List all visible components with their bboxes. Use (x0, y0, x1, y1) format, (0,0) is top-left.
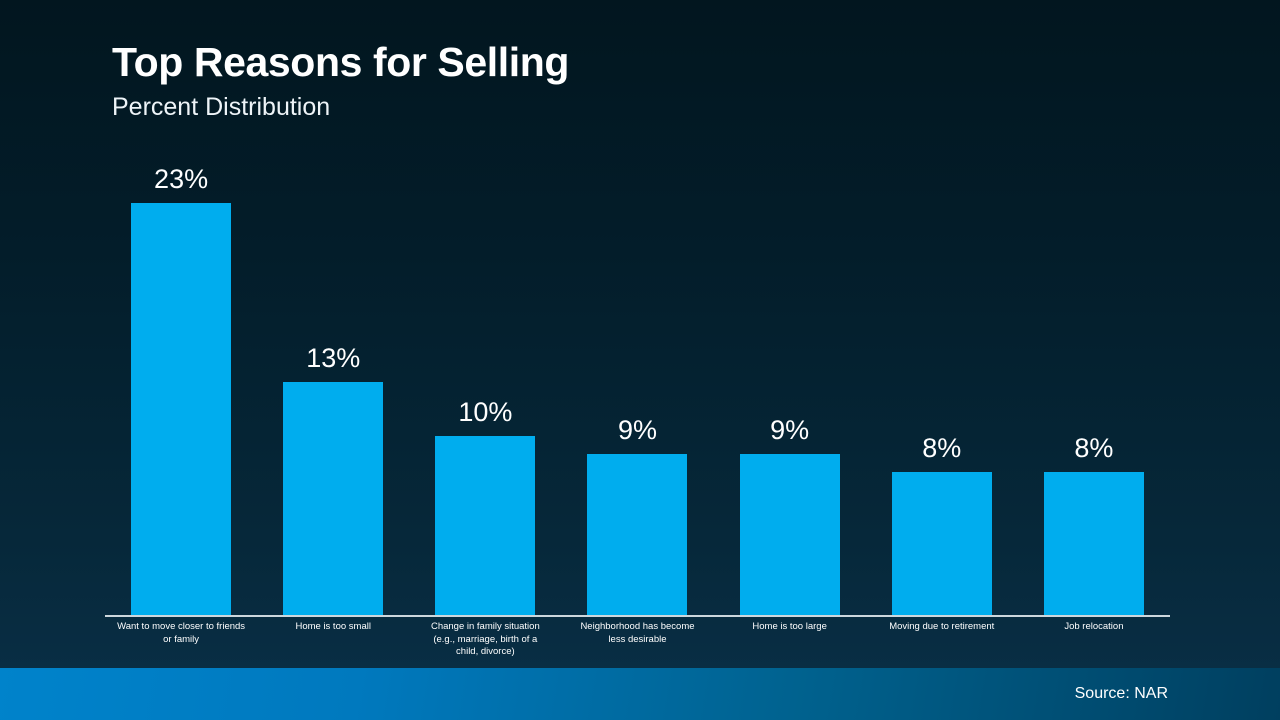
x-axis-label-line: Home is too small (295, 621, 371, 634)
x-axis-label-line: less desirable (608, 634, 666, 647)
x-axis-label: Want to move closer to friendsor family (105, 621, 257, 659)
bar-rect[interactable] (131, 203, 231, 615)
bar-value-label: 9% (618, 417, 657, 444)
x-axis-label-line: or family (163, 634, 199, 647)
bar-rect[interactable] (283, 382, 383, 615)
bar-series: 23%13%10%9%9%8%8% (105, 160, 1170, 615)
bar-item[interactable]: 9% (561, 160, 713, 615)
x-axis-label-line: Neighborhood has become (580, 621, 694, 634)
bar-rect[interactable] (587, 454, 687, 615)
x-axis-label: Moving due to retirement (866, 621, 1018, 659)
x-axis-label: Neighborhood has becomeless desirable (561, 621, 713, 659)
bar-value-label: 8% (922, 435, 961, 462)
bar-value-label: 8% (1074, 435, 1113, 462)
x-axis-label-line: Change in family situation (431, 621, 540, 634)
bar-item[interactable]: 13% (257, 160, 409, 615)
bar-item[interactable]: 10% (409, 160, 561, 615)
bar-item[interactable]: 23% (105, 160, 257, 615)
x-axis-label-line: Moving due to retirement (889, 621, 994, 634)
x-axis-label-line: child, divorce) (456, 646, 515, 659)
bar-rect[interactable] (892, 472, 992, 615)
x-axis-label: Home is too small (257, 621, 409, 659)
x-axis-line (105, 615, 1170, 617)
x-axis-label: Home is too large (714, 621, 866, 659)
bar-value-label: 13% (306, 345, 360, 372)
bar-value-label: 9% (770, 417, 809, 444)
x-axis-label-line: Want to move closer to friends (117, 621, 245, 634)
bar-rect[interactable] (1044, 472, 1144, 615)
x-axis-label-line: Job relocation (1064, 621, 1123, 634)
page-subtitle: Percent Distribution (112, 94, 1172, 122)
x-axis-label: Change in family situation(e.g., marriag… (409, 621, 561, 659)
bar-item[interactable]: 8% (866, 160, 1018, 615)
bar-rect[interactable] (435, 436, 535, 615)
chart-plot-area: 23%13%10%9%9%8%8% (105, 160, 1170, 615)
slide-canvas: Top Reasons for Selling Percent Distribu… (0, 0, 1280, 720)
x-axis-category-labels: Want to move closer to friendsor familyH… (105, 621, 1170, 659)
x-axis-label-line: Home is too large (752, 621, 826, 634)
bar-rect[interactable] (740, 454, 840, 615)
x-axis-label: Job relocation (1018, 621, 1170, 659)
bar-value-label: 10% (458, 399, 512, 426)
bar-value-label: 23% (154, 166, 208, 193)
footer-bar: Source: NAR (0, 668, 1280, 720)
x-axis-label-line: (e.g., marriage, birth of a (433, 634, 537, 647)
bar-item[interactable]: 8% (1018, 160, 1170, 615)
header: Top Reasons for Selling Percent Distribu… (112, 40, 1172, 122)
bar-item[interactable]: 9% (714, 160, 866, 615)
source-label: Source: NAR (1075, 685, 1168, 703)
page-title: Top Reasons for Selling (112, 40, 1172, 84)
